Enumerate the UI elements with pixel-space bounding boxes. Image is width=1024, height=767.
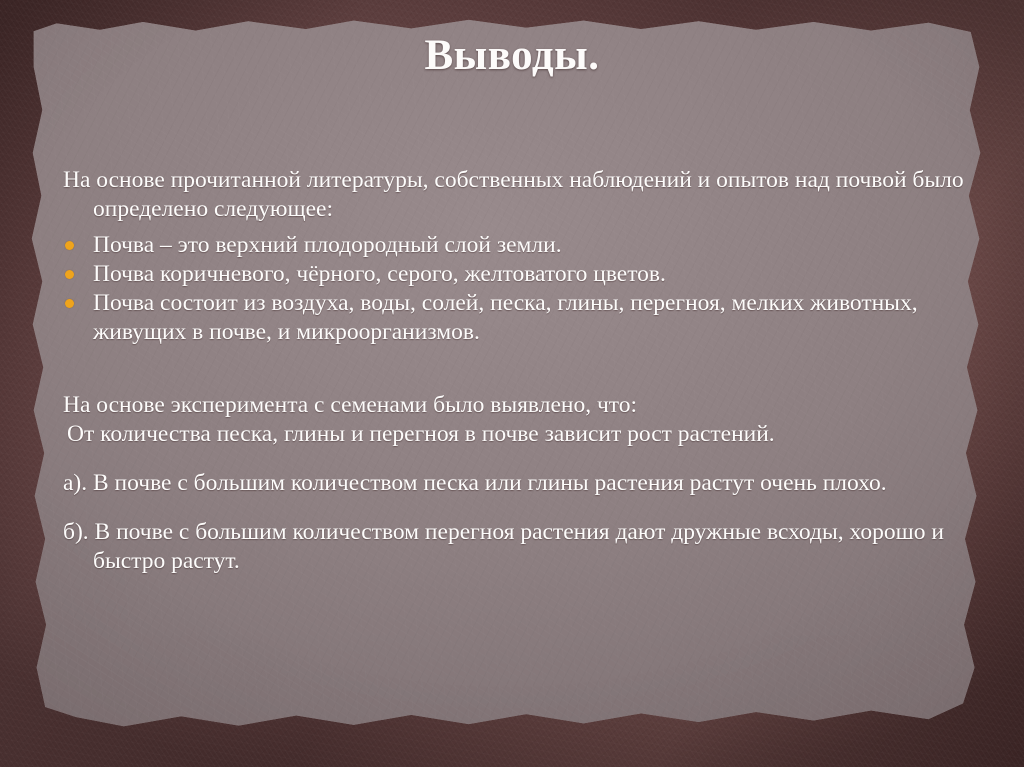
experiment-lead-paragraph: От количества песка, глины и перегноя в … [60, 420, 980, 449]
experiment-heading: На основе эксперимента с семенами было в… [60, 391, 980, 420]
slide-body: На основе прочитанной литературы, собств… [60, 166, 980, 576]
list-item: Почва – это верхний плодородный слой зем… [60, 231, 980, 260]
intro-paragraph: На основе прочитанной литературы, собств… [60, 166, 980, 224]
bullet-dot-icon [65, 299, 74, 308]
bullet-dot-icon [65, 241, 74, 250]
finding-a: а). В почве с большим количеством песка … [60, 469, 980, 498]
bullet-dot-icon [65, 270, 74, 279]
list-item-text: Почва состоит из воздуха, воды, солей, п… [93, 290, 918, 345]
list-item-text: Почва коричневого, чёрного, серого, желт… [93, 261, 666, 287]
list-item-text: Почва – это верхний плодородный слой зем… [93, 232, 562, 258]
spacer [60, 449, 980, 469]
slide-content: Выводы. На основе прочитанной литературы… [0, 0, 1024, 767]
spacer [60, 347, 980, 391]
finding-b: б). В почве с большим количеством перегн… [60, 518, 980, 576]
spacer [60, 224, 980, 231]
slide-title: Выводы. [0, 31, 1024, 80]
list-item: Почва состоит из воздуха, воды, солей, п… [60, 289, 980, 347]
list-item: Почва коричневого, чёрного, серого, желт… [60, 260, 980, 289]
presentation-slide: Выводы. На основе прочитанной литературы… [0, 0, 1024, 767]
spacer [60, 498, 980, 518]
